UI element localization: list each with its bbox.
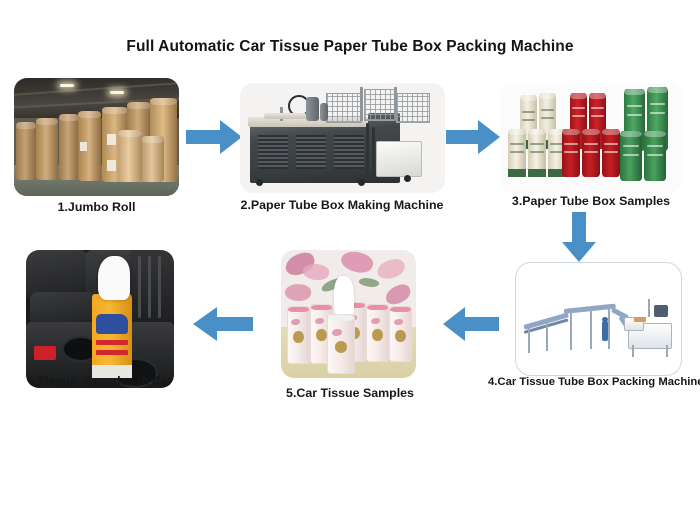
step-6-image: 6.Tissue Samples In Car xyxy=(26,250,174,388)
arrow-5-to-6 xyxy=(193,305,253,343)
step-6-caption: 6.Tissue Samples In Car xyxy=(26,374,174,388)
step-2-caption: 2.Paper Tube Box Making Machine xyxy=(232,198,452,212)
step-4-image xyxy=(515,262,682,376)
seatbelt-clip xyxy=(34,346,56,360)
jumbo-roll-photo xyxy=(14,78,179,196)
step-3-caption: 3.Paper Tube Box Samples xyxy=(498,194,684,208)
yellow-tissue-tube xyxy=(92,294,132,378)
step-5-image xyxy=(281,250,416,378)
car-tissue-samples-photo xyxy=(281,250,416,378)
tissue-in-car-photo xyxy=(26,250,174,388)
flowchart-canvas: Full Automatic Car Tissue Paper Tube Box… xyxy=(0,0,700,525)
arrow-3-to-4 xyxy=(560,212,598,262)
step-5-caption: 5.Car Tissue Samples xyxy=(272,386,428,400)
arrow-2-to-3 xyxy=(446,118,500,156)
tube-box-samples-photo xyxy=(500,83,682,193)
step-1-image xyxy=(14,78,179,196)
tissue-sheet xyxy=(334,276,354,316)
page-title: Full Automatic Car Tissue Paper Tube Box… xyxy=(0,38,700,56)
arrow-4-to-5 xyxy=(443,305,499,343)
tube-box-making-machine-photo xyxy=(240,83,445,193)
step-4-caption: 4.Car Tissue Tube Box Packing Machine xyxy=(488,376,700,388)
packing-machine-photo xyxy=(516,263,681,375)
step-1-caption: 1.Jumbo Roll xyxy=(14,200,179,214)
step-2-image xyxy=(240,83,445,193)
arrow-1-to-2 xyxy=(186,118,242,156)
tissue-sheet xyxy=(98,256,130,300)
step-3-image xyxy=(500,83,682,193)
